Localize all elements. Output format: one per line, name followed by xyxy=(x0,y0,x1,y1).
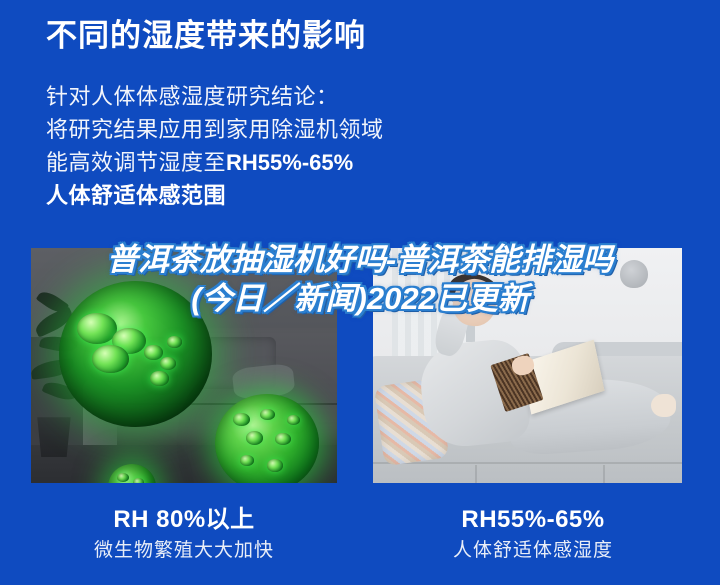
couch-divider xyxy=(603,465,605,483)
microbe-bump xyxy=(144,345,162,360)
microbe-bump xyxy=(167,336,182,348)
intro-line-3-prefix: 能高效调节湿度至 xyxy=(46,150,226,175)
microbe-bump xyxy=(260,409,275,420)
intro-line-1: 针对人体体感湿度研究结论： xyxy=(46,80,384,113)
couch-seam xyxy=(373,462,682,464)
person-foot xyxy=(651,394,676,418)
microbe-bump xyxy=(267,459,284,472)
microbe-cluster-small xyxy=(215,394,319,483)
high-humidity-room-photo xyxy=(31,248,337,483)
microbe-bump xyxy=(275,433,291,445)
left-caption-sub: 微生物繁殖大大加快 xyxy=(34,537,334,565)
microbe-bump xyxy=(77,313,117,344)
microbe-bump xyxy=(246,431,264,445)
microbe-bump xyxy=(133,478,144,483)
bright-living-room-scene xyxy=(373,248,682,483)
intro-paragraph: 针对人体体感湿度研究结论： 将研究结果应用到家用除湿机领域 能高效调节湿度至RH… xyxy=(46,80,384,212)
wall-lamp xyxy=(620,260,648,288)
page-title: 不同的湿度带来的影响 xyxy=(46,14,366,58)
microbe-bump xyxy=(240,455,255,466)
microbe-bump xyxy=(160,357,177,370)
intro-line-2: 将研究结果应用到家用除湿机领域 xyxy=(46,113,384,146)
right-panel-caption: RH55%-65% 人体舒适体感湿度 xyxy=(383,505,683,565)
comfort-humidity-room-photo xyxy=(373,248,682,483)
microbe-bump xyxy=(92,345,129,373)
humidity-range-emphasis: RH55%-65% xyxy=(226,150,353,175)
left-panel-caption: RH 80%以上 微生物繁殖大大加快 xyxy=(34,505,334,565)
microbe-bump xyxy=(287,415,299,425)
intro-line-3: 能高效调节湿度至RH55%-65% xyxy=(46,146,384,179)
dark-living-room-scene xyxy=(31,248,337,483)
intro-line-4: 人体舒适体感范围 xyxy=(46,179,384,212)
right-caption-sub: 人体舒适体感湿度 xyxy=(383,537,683,565)
right-caption-main: RH55%-65% xyxy=(383,505,683,535)
couch-divider xyxy=(475,465,477,483)
microbe-bump xyxy=(233,413,250,426)
microbe-bump xyxy=(117,473,129,482)
microbe-cluster-large xyxy=(59,281,212,427)
left-caption-main: RH 80%以上 xyxy=(34,505,334,535)
humidity-infographic-poster: 不同的湿度带来的影响 针对人体体感湿度研究结论： 将研究结果应用到家用除湿机领域… xyxy=(0,0,720,585)
microbe-bump xyxy=(150,371,168,386)
